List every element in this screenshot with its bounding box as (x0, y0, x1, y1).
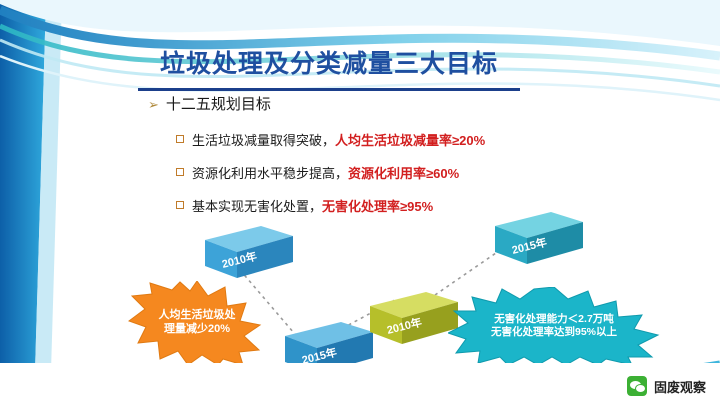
page-title: 垃圾处理及分类减量三大目标 (160, 44, 498, 80)
bullet-level1-label: 十二五规划目标 (166, 96, 271, 113)
bullet-item-2-text: 资源化利用水平稳步提高， (192, 166, 348, 181)
arrow-bullet-icon: ➢ (148, 97, 159, 112)
square-bullet-icon (176, 201, 184, 209)
square-bullet-icon (176, 168, 184, 176)
title-container: 垃圾处理及分类减量三大目标 (138, 38, 520, 91)
footer: 固废观察 (0, 363, 720, 405)
year-box-2015-right: 2015年 (493, 208, 585, 270)
bullet-item-2-highlight: 资源化利用率≥60% (348, 166, 459, 181)
bullet-level1: ➢十二五规划目标 (148, 93, 271, 114)
callout-cyan-text: 无害化处理能力＜2.7万吨 无害化处理率达到95%以上 (448, 287, 660, 365)
square-bullet-icon (176, 135, 184, 143)
bullet-item-1-text: 生活垃圾减量取得突破， (192, 133, 335, 148)
callout-orange: 人均生活垃圾处 理量减少20% (128, 281, 266, 365)
callout-cyan: 无害化处理能力＜2.7万吨 无害化处理率达到95%以上 (448, 287, 660, 365)
bullet-item-1-highlight: 人均生活垃圾减量率≥20% (335, 133, 485, 148)
bullet-item-2: 资源化利用水平稳步提高，资源化利用率≥60% (176, 163, 459, 182)
bullet-item-3-text: 基本实现无害化处置， (192, 199, 322, 214)
bullet-item-1: 生活垃圾减量取得突破，人均生活垃圾减量率≥20% (176, 130, 485, 149)
callout-orange-text: 人均生活垃圾处 理量减少20% (128, 281, 266, 365)
year-box-2010-right: 2010年 (368, 288, 460, 350)
wechat-icon (627, 376, 647, 396)
slide: 垃圾处理及分类减量三大目标 ➢十二五规划目标 生活垃圾减量取得突破，人均生活垃圾… (0, 0, 720, 405)
wechat-label: 固废观察 (654, 377, 706, 396)
bullet-item-3: 基本实现无害化处置，无害化处理率≥95% (176, 196, 433, 215)
bullet-item-3-highlight: 无害化处理率≥95% (322, 199, 433, 214)
wechat-account: 固废观察 (627, 376, 706, 396)
year-box-2010-left: 2010年 (203, 222, 295, 284)
